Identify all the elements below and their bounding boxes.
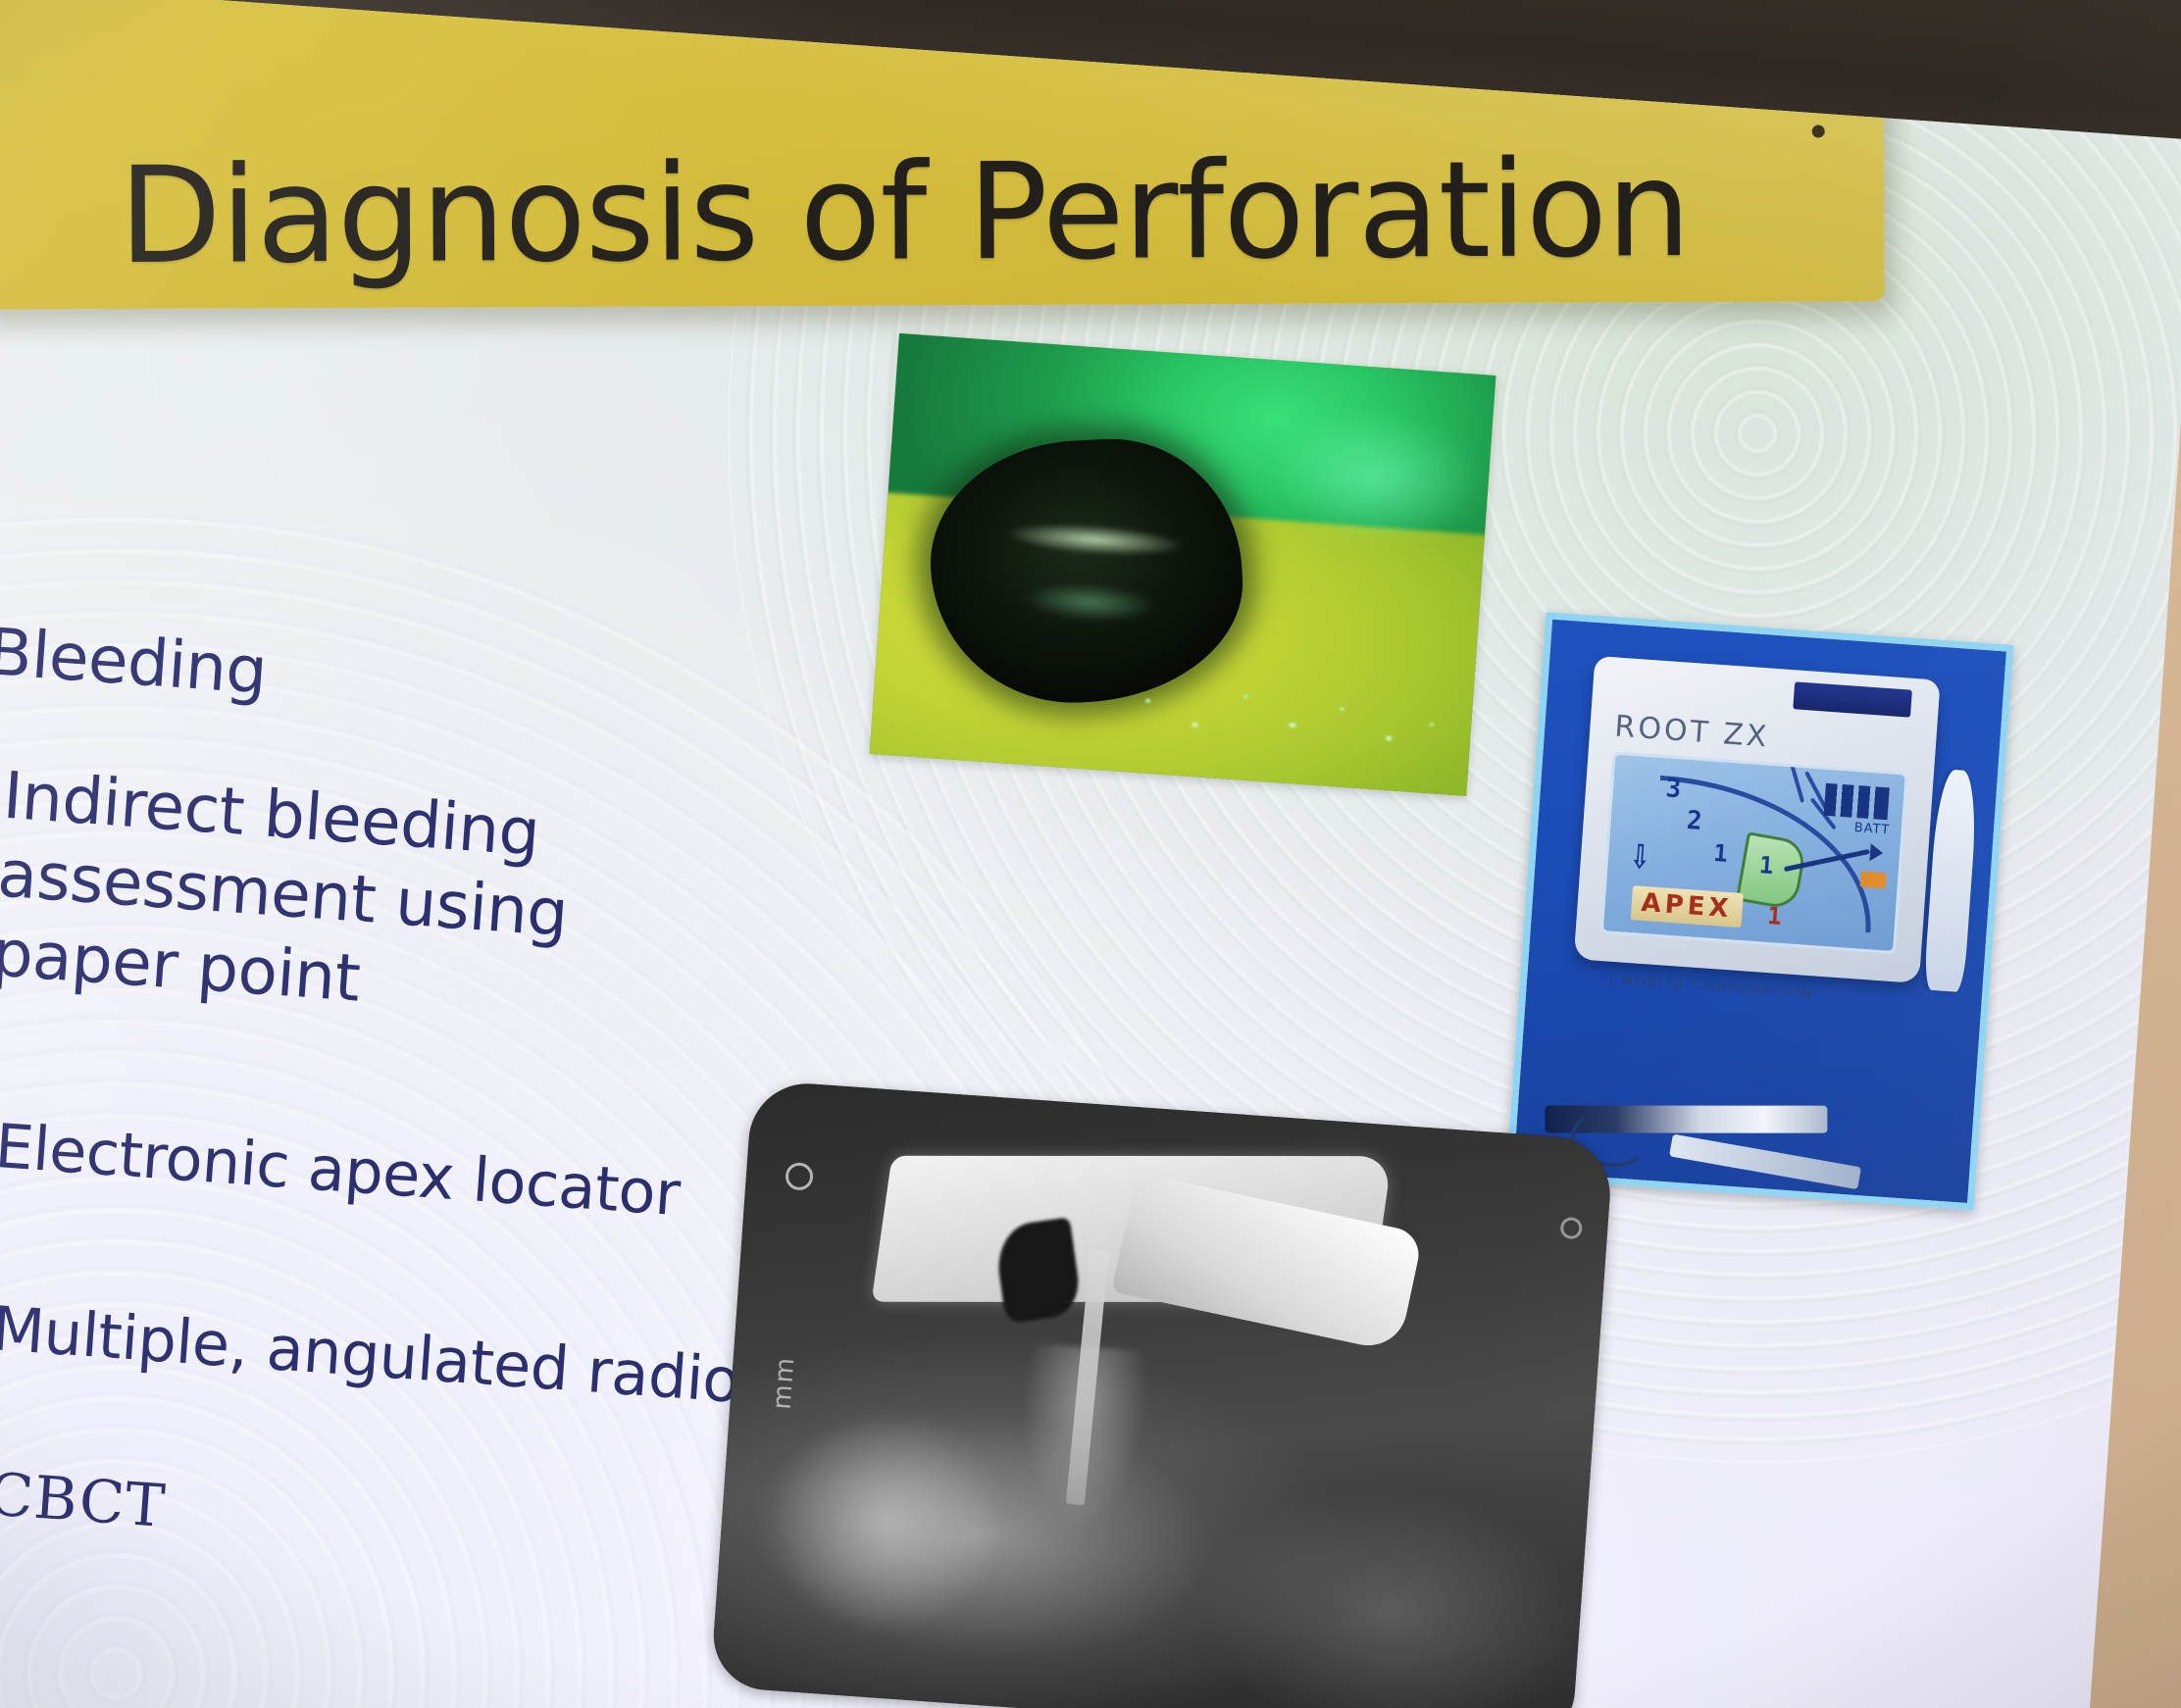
- radiograph-image: mm: [710, 1080, 1614, 1708]
- title-banner-dot: [1812, 125, 1825, 137]
- bullet-text: Electronic apex locator: [0, 1109, 683, 1231]
- apex-locator-apex-label: APEX: [1630, 885, 1743, 928]
- clinical-photo-green-glow: [1232, 383, 1496, 571]
- radiograph-orientation-dot-right: [1559, 1216, 1582, 1238]
- bullet-text: Indirect bleeding assessment using paper…: [0, 756, 633, 1036]
- apex-locator-scale-number-1: 1: [1712, 839, 1728, 868]
- bullet-text: CBCT: [0, 1460, 168, 1544]
- apex-locator-scale-tick: [1790, 764, 1804, 804]
- apex-locator-battery-label: BATT: [1853, 821, 1890, 838]
- apex-locator-apex-value: 1: [1766, 902, 1782, 930]
- apex-locator-scale-number-2: 2: [1686, 806, 1703, 836]
- clinical-photo-perforation: [870, 333, 1496, 796]
- list-item: Indirect bleeding assessment using paper…: [0, 753, 1010, 1064]
- apex-locator-file-holder: [1669, 1133, 1861, 1188]
- bullet-text: Bleeding: [0, 613, 270, 711]
- apex-locator-body: ROOT ZX 3 2 1 ⇩ 1 BA: [1574, 656, 1941, 983]
- apex-locator-photo: ROOT ZX 3 2 1 ⇩ 1 BA: [1506, 612, 2014, 1210]
- powerpoint-slide: Diagnosis of Perforation Bleeding Indire…: [0, 0, 2181, 1708]
- slide-surface: Diagnosis of Perforation Bleeding Indire…: [0, 0, 2181, 1708]
- apex-locator-orange-marker: [1859, 871, 1887, 888]
- apex-locator-down-arrow-icon: ⇩: [1629, 837, 1651, 878]
- apex-locator-brand-label: ROOT ZX: [1613, 709, 1770, 754]
- apex-locator-manufacturer-label: J MORITA CORPORATION: [1608, 973, 1813, 1003]
- projected-slide-photograph: Diagnosis of Perforation Bleeding Indire…: [0, 0, 2181, 1708]
- list-item: Bleeding: [0, 610, 1020, 765]
- apex-locator-speaker-icon: [1869, 843, 1883, 862]
- apex-locator-top-cap: [1793, 682, 1912, 718]
- apex-locator-scale-number-3: 3: [1664, 774, 1682, 804]
- radiograph-root-outline: [1002, 1342, 1158, 1607]
- apex-locator-display-digit: 1: [1758, 851, 1774, 879]
- apex-locator-display: 3 2 1 ⇩ 1 BATT APEX 1: [1600, 751, 1909, 954]
- apex-locator-battery-bars-icon: [1824, 783, 1890, 820]
- radiograph-scale-label: mm: [768, 1355, 801, 1411]
- page-title: Diagnosis of Perforation: [119, 143, 1691, 283]
- radiograph-radiolucent-area: [730, 1372, 1042, 1672]
